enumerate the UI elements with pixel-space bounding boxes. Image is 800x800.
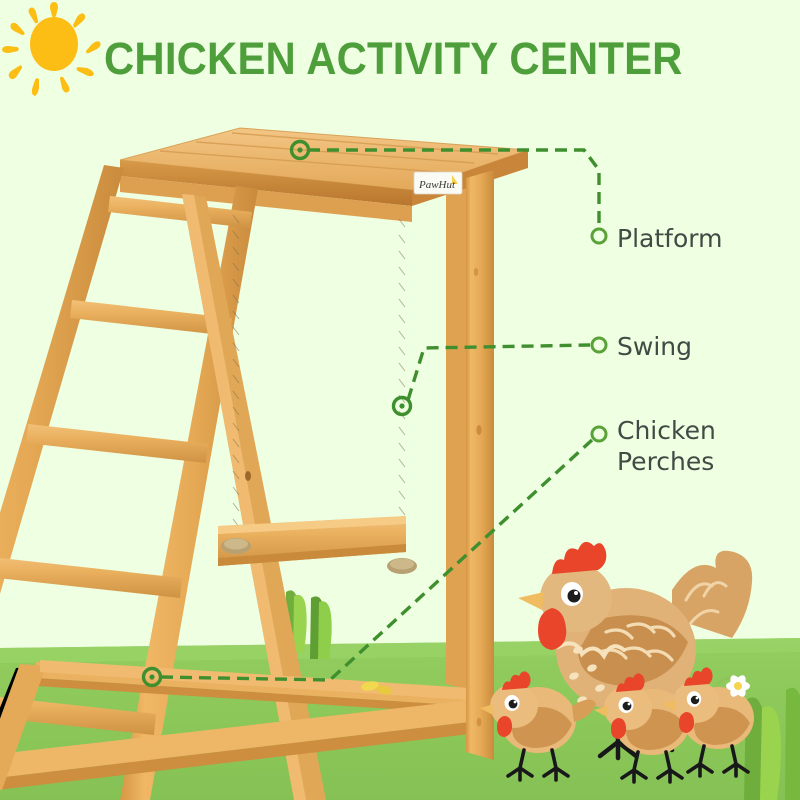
callout-line-perches <box>144 440 593 686</box>
callout-lines <box>0 0 800 800</box>
callout-dot-icon <box>592 338 606 352</box>
page-title: CHICKEN ACTIVITY CENTER <box>104 34 683 84</box>
callout-line-platform <box>292 142 600 229</box>
callout-label-swing: Swing <box>617 331 692 362</box>
infographic-canvas: PawHut <box>0 0 800 800</box>
callout-dot-icon <box>592 229 606 243</box>
sun-icon <box>2 2 114 110</box>
callout-label-platform: Platform <box>617 223 722 254</box>
callout-label-chicken-perches: Chicken Perches <box>617 415 716 477</box>
callout-dot-icon <box>592 427 606 441</box>
callout-line-swing <box>394 345 591 415</box>
